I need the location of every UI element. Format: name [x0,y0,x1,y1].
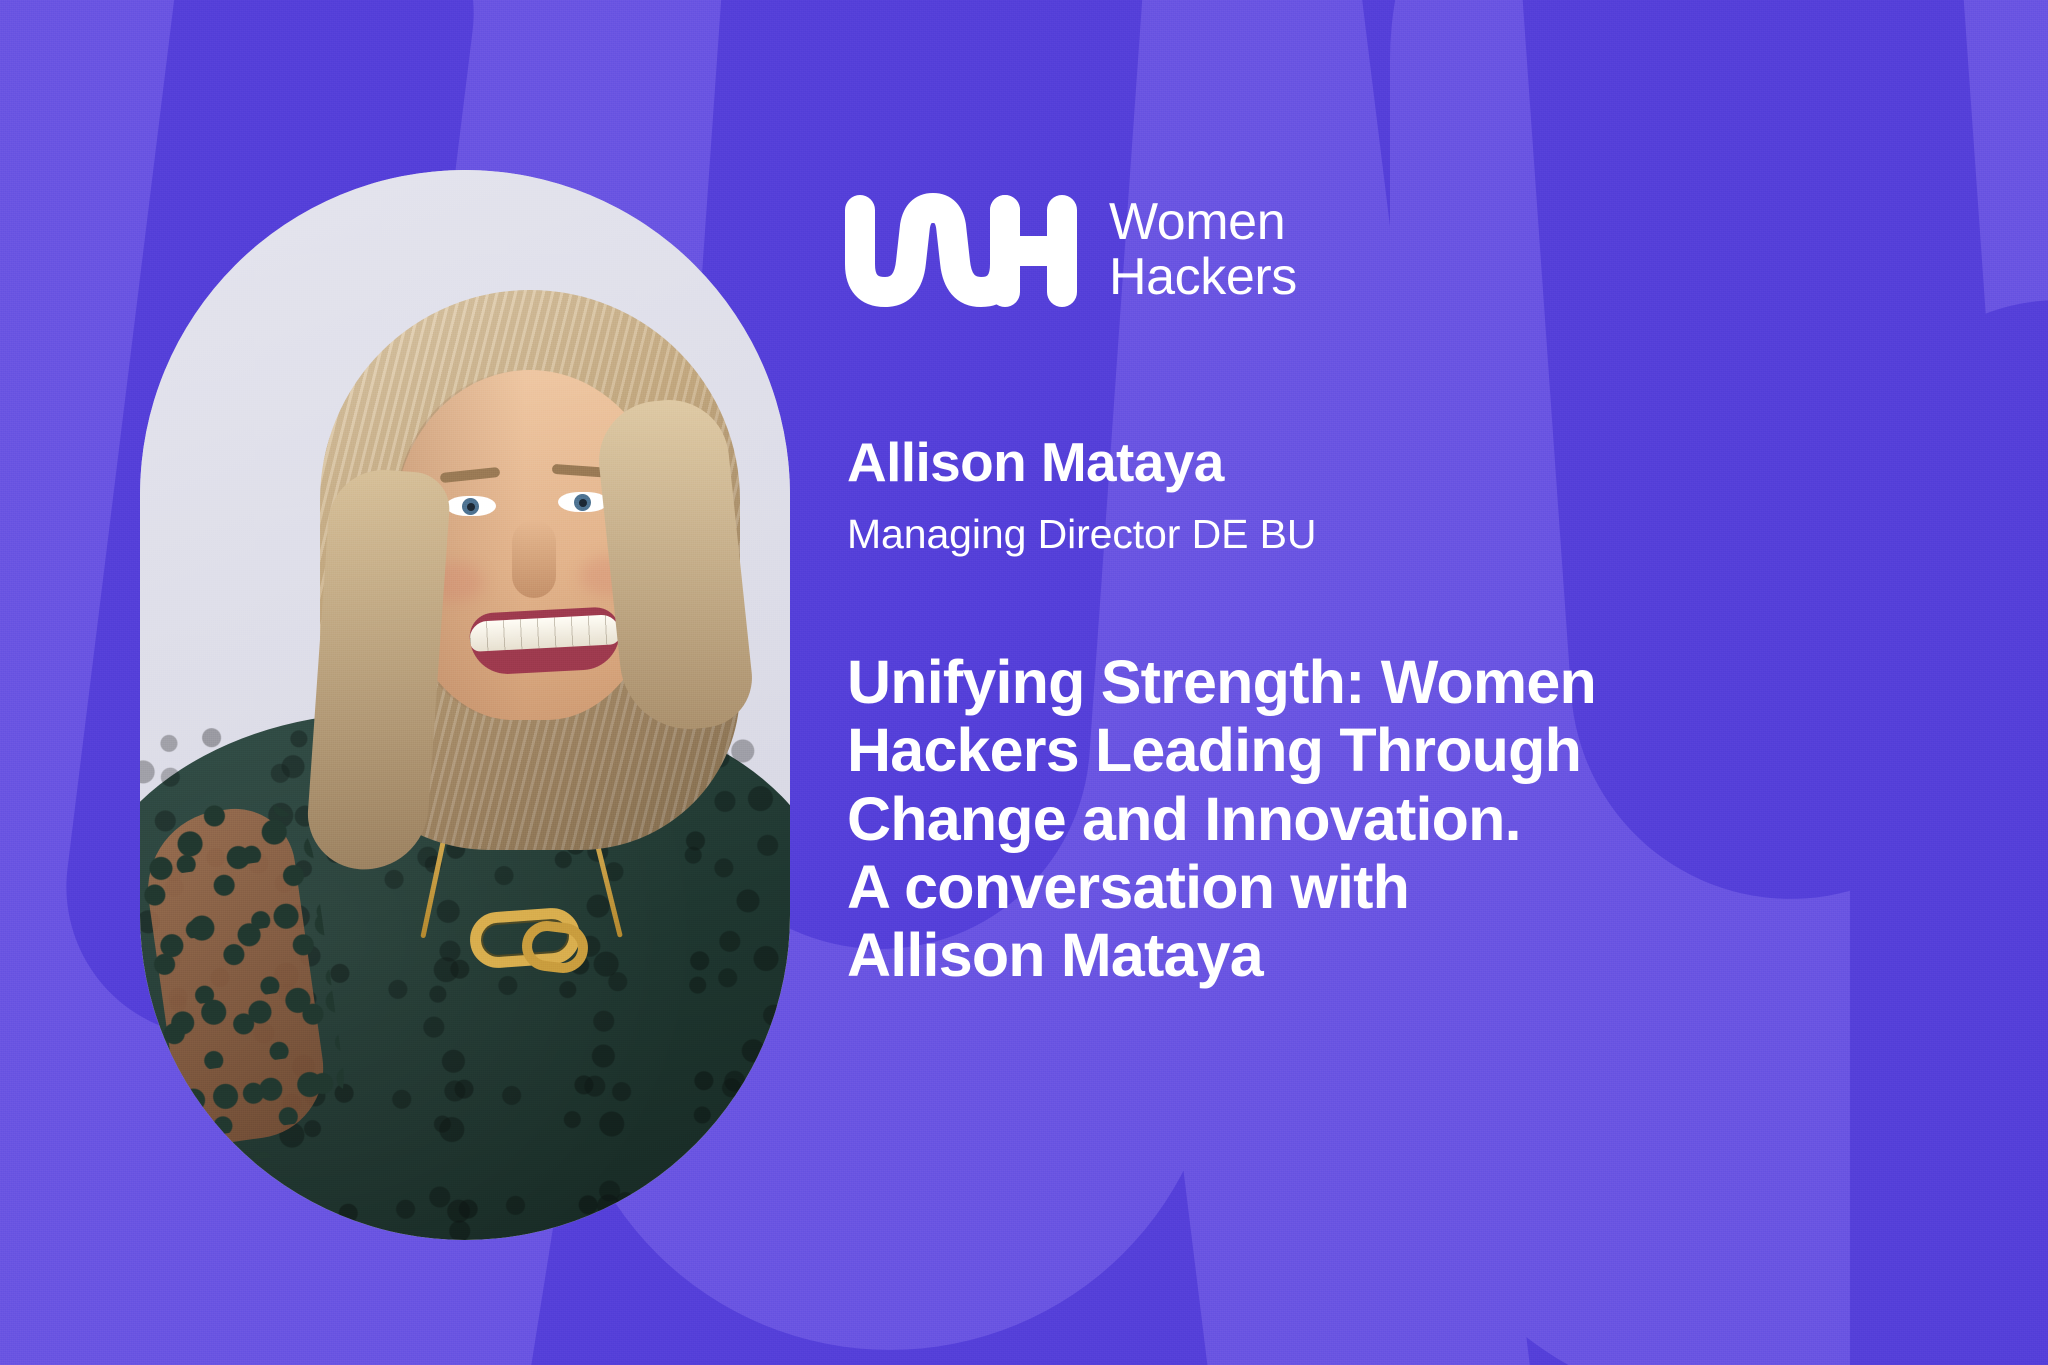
women-hackers-logo-lockup: Women Hackers [845,192,1297,310]
headline-line-5: Allison Mataya [847,921,1907,989]
wordmark-line-1: Women [1109,195,1297,250]
wordmark-line-2: Hackers [1109,250,1297,305]
headline-line-1: Unifying Strength: Women [847,648,1907,716]
headline-line-2: Hackers Leading Through [847,716,1907,784]
speaker-role: Managing Director DE BU [847,509,1316,560]
episode-headline: Unifying Strength: Women Hackers Leading… [847,648,1907,990]
photo-grain-texture [140,170,790,1240]
headline-line-4: A conversation with [847,853,1907,921]
speaker-photo-frame [140,170,790,1240]
speaker-info-block: Allison Mataya Managing Director DE BU [847,432,1316,560]
speaker-name: Allison Mataya [847,432,1316,493]
wh-monogram-icon [845,192,1077,310]
headline-line-3: Change and Innovation. [847,785,1907,853]
women-hackers-wordmark: Women Hackers [1109,195,1297,306]
speaker-photo [140,170,790,1240]
content-column: Women Hackers Allison Mataya Managing Di… [845,0,1945,1365]
